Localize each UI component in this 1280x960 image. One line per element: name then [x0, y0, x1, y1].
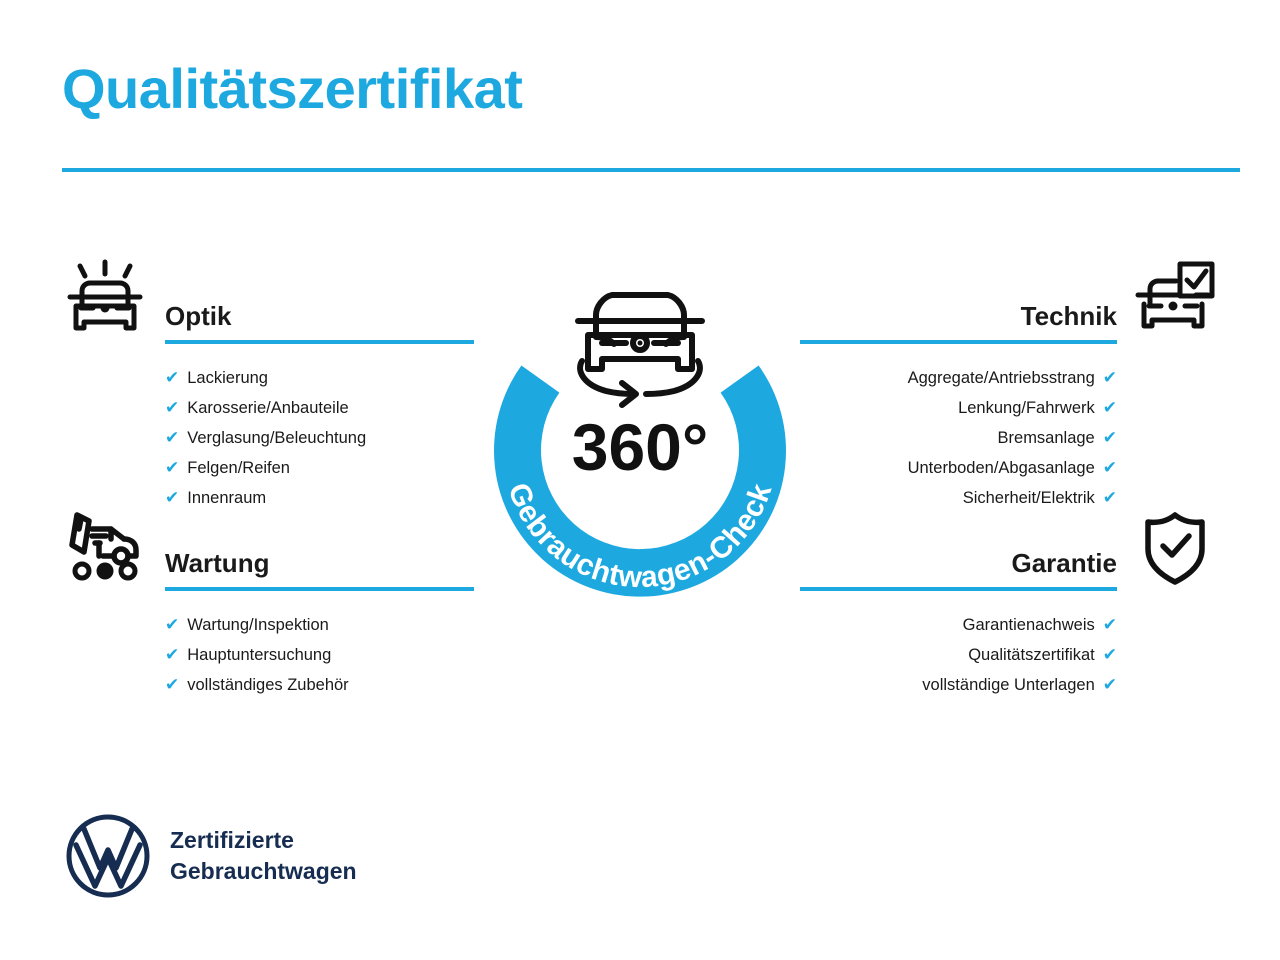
section-optik: Optik ✔ Lackierung ✔ Karosserie/Anbautei…: [62, 258, 474, 513]
vw-certified-text: Zertifizierte Gebrauchtwagen: [170, 825, 357, 886]
car-rotate-icon: [578, 295, 702, 405]
list-item-label: Felgen/Reifen: [187, 453, 290, 483]
section-technik-title-wrap: Technik: [800, 302, 1117, 344]
list-item: ✔ Karosserie/Anbauteile: [165, 393, 474, 423]
vw-certified-lockup: Zertifizierte Gebrauchtwagen: [64, 812, 357, 900]
section-optik-header: Optik: [62, 258, 474, 344]
list-item: Unterboden/Abgasanlage ✔: [800, 453, 1117, 483]
section-wartung-list: ✔ Wartung/Inspektion ✔ Hauptuntersuchung…: [165, 610, 474, 700]
list-item: Bremsanlage ✔: [800, 423, 1117, 453]
list-item-label: Lackierung: [187, 363, 268, 393]
vw-logo: [64, 812, 152, 900]
list-item-label: Wartung/Inspektion: [187, 610, 329, 640]
list-item-label: vollständige Unterlagen: [922, 670, 1094, 700]
car-checkbox-icon: [1132, 258, 1218, 344]
badge-360-gebrauchtwagen-check: Gebrauchtwagen-Check 360°: [455, 245, 825, 635]
car-shine-icon: [62, 258, 148, 344]
section-wartung-divider: [165, 587, 474, 591]
section-technik: Technik Aggregate/Antriebsstrang ✔ Lenku…: [800, 258, 1218, 513]
section-garantie: Garantie Garantienachweis ✔ Qualitätszer…: [800, 505, 1218, 700]
section-technik-header: Technik: [800, 258, 1218, 344]
check-icon: ✔: [165, 363, 179, 393]
check-icon: ✔: [1103, 363, 1117, 393]
badge-value: 360°: [572, 410, 709, 484]
list-item: vollständige Unterlagen ✔: [800, 670, 1117, 700]
section-wartung-title: Wartung: [165, 549, 474, 587]
list-item: Lenkung/Fahrwerk ✔: [800, 393, 1117, 423]
section-optik-list: ✔ Lackierung ✔ Karosserie/Anbauteile ✔ V…: [165, 363, 474, 513]
check-icon: ✔: [1103, 393, 1117, 423]
list-item: ✔ Felgen/Reifen: [165, 453, 474, 483]
list-item-label: Karosserie/Anbauteile: [187, 393, 348, 423]
section-wartung: Wartung ✔ Wartung/Inspektion ✔ Hauptunte…: [62, 505, 474, 700]
section-garantie-header: Garantie: [800, 505, 1218, 591]
section-technik-title: Technik: [800, 302, 1117, 340]
check-icon: ✔: [1103, 453, 1117, 483]
check-icon: ✔: [165, 640, 179, 670]
list-item: Garantienachweis ✔: [800, 610, 1117, 640]
list-item-label: Lenkung/Fahrwerk: [958, 393, 1095, 423]
vw-text-line1: Zertifizierte: [170, 825, 357, 856]
title-divider: [62, 168, 1240, 172]
list-item: ✔ Lackierung: [165, 363, 474, 393]
car-service-pen-icon: [62, 505, 148, 591]
list-item: Qualitätszertifikat ✔: [800, 640, 1117, 670]
list-item-label: Bremsanlage: [998, 423, 1095, 453]
list-item: ✔ Wartung/Inspektion: [165, 610, 474, 640]
section-optik-title: Optik: [165, 302, 474, 340]
vw-text-line2: Gebrauchtwagen: [170, 856, 357, 887]
list-item-label: Verglasung/Beleuchtung: [187, 423, 366, 453]
check-icon: ✔: [165, 393, 179, 423]
section-garantie-title-wrap: Garantie: [800, 549, 1117, 591]
check-icon: ✔: [1103, 640, 1117, 670]
list-item: ✔ vollständiges Zubehör: [165, 670, 474, 700]
list-item-label: Aggregate/Antriebsstrang: [908, 363, 1095, 393]
list-item-label: Hauptuntersuchung: [187, 640, 331, 670]
section-garantie-divider: [800, 587, 1117, 591]
list-item: ✔ Verglasung/Beleuchtung: [165, 423, 474, 453]
section-technik-list: Aggregate/Antriebsstrang ✔ Lenkung/Fahrw…: [800, 363, 1117, 513]
shield-check-icon: [1132, 505, 1218, 591]
check-icon: ✔: [165, 610, 179, 640]
check-icon: ✔: [1103, 670, 1117, 700]
check-icon: ✔: [1103, 610, 1117, 640]
list-item-label: Qualitätszertifikat: [968, 640, 1095, 670]
section-wartung-header: Wartung: [62, 505, 474, 591]
list-item-label: vollständiges Zubehör: [187, 670, 348, 700]
page-title: Qualitätszertifikat: [62, 58, 522, 120]
section-garantie-title: Garantie: [800, 549, 1117, 587]
list-item-label: Unterboden/Abgasanlage: [908, 453, 1095, 483]
check-icon: ✔: [165, 670, 179, 700]
section-technik-divider: [800, 340, 1117, 344]
check-icon: ✔: [165, 423, 179, 453]
section-optik-divider: [165, 340, 474, 344]
section-wartung-title-wrap: Wartung: [165, 549, 474, 591]
check-icon: ✔: [165, 453, 179, 483]
section-optik-title-wrap: Optik: [165, 302, 474, 344]
list-item: ✔ Hauptuntersuchung: [165, 640, 474, 670]
list-item: Aggregate/Antriebsstrang ✔: [800, 363, 1117, 393]
check-icon: ✔: [1103, 423, 1117, 453]
section-garantie-list: Garantienachweis ✔ Qualitätszertifikat ✔…: [800, 610, 1117, 700]
list-item-label: Garantienachweis: [963, 610, 1095, 640]
